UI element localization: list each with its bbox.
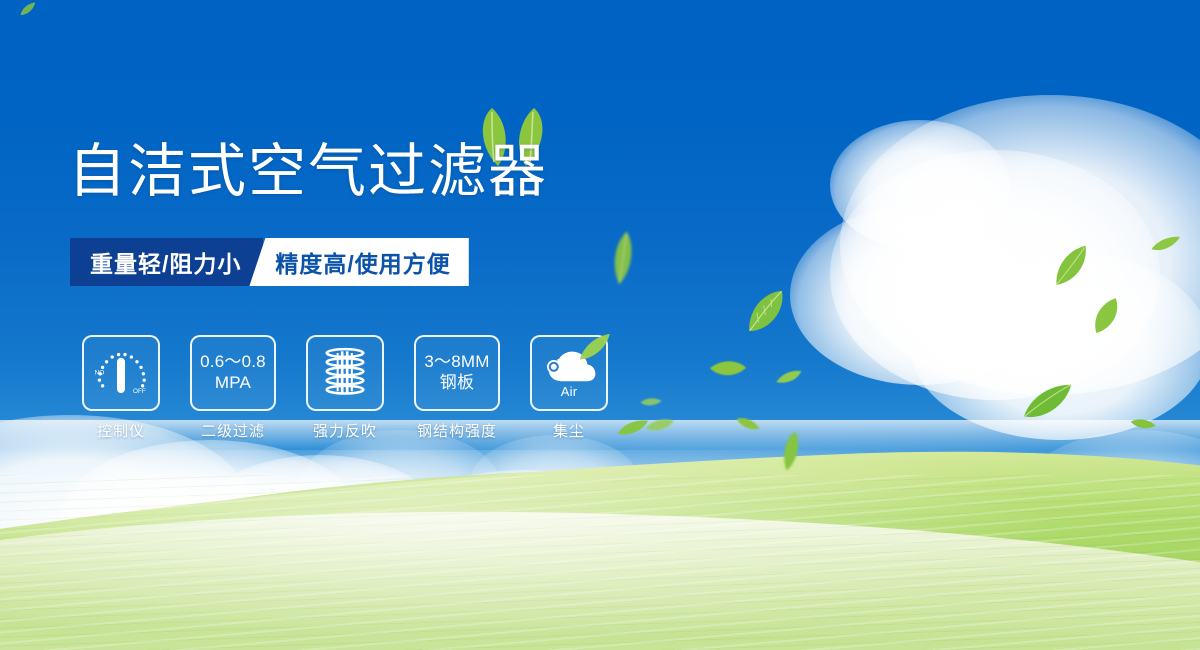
feature-box-text: 3～8MM — [424, 352, 489, 373]
air-cloud-icon — [541, 346, 597, 386]
floating-leaf-icon — [707, 350, 749, 386]
floating-leaf-icon — [774, 366, 805, 389]
svg-text:NO: NO — [95, 370, 105, 377]
feature-icon-box: NO OFF — [82, 335, 160, 411]
cloud-right-3 — [790, 205, 1050, 385]
floating-leaf-icon — [733, 280, 800, 343]
svg-text:OFF: OFF — [133, 388, 146, 395]
floating-leaf-icon — [639, 394, 662, 410]
product-hero-banner: 自洁式空气过滤器 重量轻/阻力小 精度高/使用方便 — [0, 0, 1200, 650]
cloud-right-2 — [830, 150, 1160, 400]
feature-list: NO OFF 控制仪 0.6～0.8 MPA 二级过滤 — [76, 335, 614, 441]
feature-box-text2: 钢板 — [440, 373, 474, 394]
feature-label: 强力反吹 — [313, 420, 377, 441]
feature-item-backflush[interactable]: 强力反吹 — [300, 335, 390, 441]
coil-filter-icon — [320, 346, 370, 400]
feature-label: 二级过滤 — [201, 420, 265, 441]
feature-box-text2: MPA — [215, 373, 251, 394]
feature-label: 集尘 — [553, 420, 585, 441]
feature-box-text: 0.6～0.8 — [200, 352, 266, 373]
feature-item-control-dial[interactable]: NO OFF 控制仪 — [76, 335, 166, 441]
floating-leaf-icon — [606, 228, 640, 287]
floating-leaf-icon — [1016, 378, 1079, 426]
cloud-right-5 — [830, 120, 1010, 250]
feature-icon-box — [306, 335, 384, 411]
feature-icon-box: 3～8MM 钢板 — [414, 335, 500, 411]
feature-item-pressure[interactable]: 0.6～0.8 MPA 二级过滤 — [188, 335, 278, 441]
floating-leaf-icon — [1083, 290, 1132, 343]
feature-box-text2: Air — [561, 384, 578, 400]
feature-item-steel[interactable]: 3～8MM 钢板 钢结构强度 — [412, 335, 502, 441]
feature-label: 控制仪 — [97, 420, 145, 441]
feature-item-dust-collection[interactable]: Air 集尘 — [524, 335, 614, 441]
floating-leaf-icon — [1148, 231, 1183, 256]
page-title: 自洁式空气过滤器 — [68, 143, 548, 201]
feature-icon-box: 0.6～0.8 MPA — [190, 335, 276, 411]
grass-field — [0, 420, 1200, 650]
feature-label: 钢结构强度 — [417, 420, 497, 441]
cloud-right-4 — [910, 250, 1200, 440]
cloud-right-1 — [840, 95, 1200, 395]
subtitle-bar: 重量轻/阻力小 精度高/使用方便 — [70, 238, 469, 286]
subtitle-left-panel: 重量轻/阻力小 — [70, 238, 263, 286]
floating-leaf-icon — [16, 0, 40, 20]
floating-leaf-icon — [1043, 235, 1100, 297]
control-dial-icon: NO OFF — [93, 348, 149, 398]
subtitle-right-panel: 精度高/使用方便 — [249, 238, 468, 286]
feature-icon-box: Air — [530, 335, 608, 411]
